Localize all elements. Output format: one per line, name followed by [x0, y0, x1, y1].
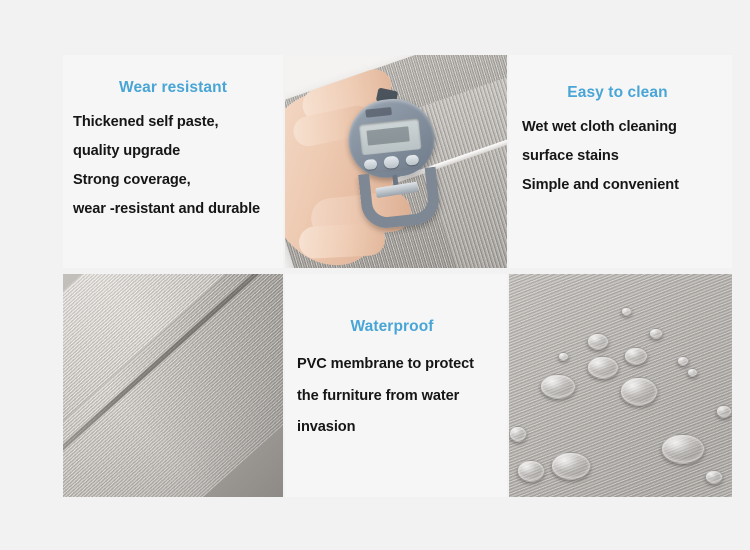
feature-line: wear -resistant and durable	[73, 202, 260, 217]
water-droplet-graphic	[677, 356, 689, 366]
feature-line: the furniture from water	[297, 389, 474, 404]
water-droplet-graphic	[649, 328, 663, 339]
thickness-gauge-photo	[285, 55, 507, 271]
gauge-frame-graphic	[358, 167, 441, 231]
feature-lines-easy-to-clean: Wet wet cloth cleaning surface stains Si…	[522, 120, 679, 207]
water-droplet-graphic	[661, 434, 705, 464]
water-droplet-graphic	[551, 452, 591, 480]
water-droplet-graphic	[558, 352, 569, 361]
water-droplet-graphic	[624, 347, 648, 365]
gauge-button-graphic	[405, 154, 419, 165]
feature-line: quality upgrade	[73, 144, 260, 159]
feature-heading-wear-resistant: Wear resistant	[63, 79, 283, 97]
feature-line: Wet wet cloth cleaning	[522, 120, 679, 135]
gauge-button-graphic	[364, 159, 378, 170]
digital-thickness-gauge-graphic	[345, 95, 444, 231]
feature-line: Strong coverage,	[73, 173, 260, 188]
feature-line: Thickened self paste,	[73, 115, 260, 130]
feature-line: Simple and convenient	[522, 178, 679, 193]
water-droplet-graphic	[620, 377, 658, 406]
water-droplet-graphic	[621, 307, 632, 316]
feature-lines-waterproof: PVC membrane to protect the furniture fr…	[297, 357, 474, 452]
water-droplet-graphic	[705, 470, 723, 484]
feature-grid: Wear resistant Thickened self paste, qua…	[63, 55, 732, 497]
feature-heading-waterproof: Waterproof	[285, 318, 499, 336]
water-droplets-photo	[507, 271, 732, 497]
water-droplet-graphic	[540, 374, 576, 399]
feature-line: PVC membrane to protect	[297, 357, 474, 372]
water-droplet-graphic	[716, 405, 732, 418]
feature-cell-waterproof: Waterproof PVC membrane to protect the f…	[285, 271, 507, 497]
water-droplet-graphic	[587, 356, 619, 379]
gauge-logo-graphic	[365, 107, 392, 118]
gauge-button-graphic	[383, 156, 399, 170]
product-feature-infographic: Wear resistant Thickened self paste, qua…	[0, 0, 750, 550]
water-droplet-graphic	[509, 426, 527, 442]
feature-heading-easy-to-clean: Easy to clean	[509, 84, 726, 102]
vinyl-roll-shading-graphic	[63, 274, 283, 497]
water-droplet-graphic	[587, 333, 609, 350]
water-droplet-graphic	[687, 368, 698, 377]
feature-line: invasion	[297, 420, 474, 435]
gauge-lcd-screen-graphic	[359, 118, 422, 155]
feature-lines-wear-resistant: Thickened self paste, quality upgrade St…	[73, 115, 260, 231]
feature-cell-easy-to-clean: Easy to clean Wet wet cloth cleaning sur…	[507, 55, 732, 271]
water-droplet-graphic	[517, 460, 545, 482]
feature-line: surface stains	[522, 149, 679, 164]
vinyl-roll-photo	[63, 271, 285, 497]
feature-cell-wear-resistant: Wear resistant Thickened self paste, qua…	[63, 55, 285, 271]
